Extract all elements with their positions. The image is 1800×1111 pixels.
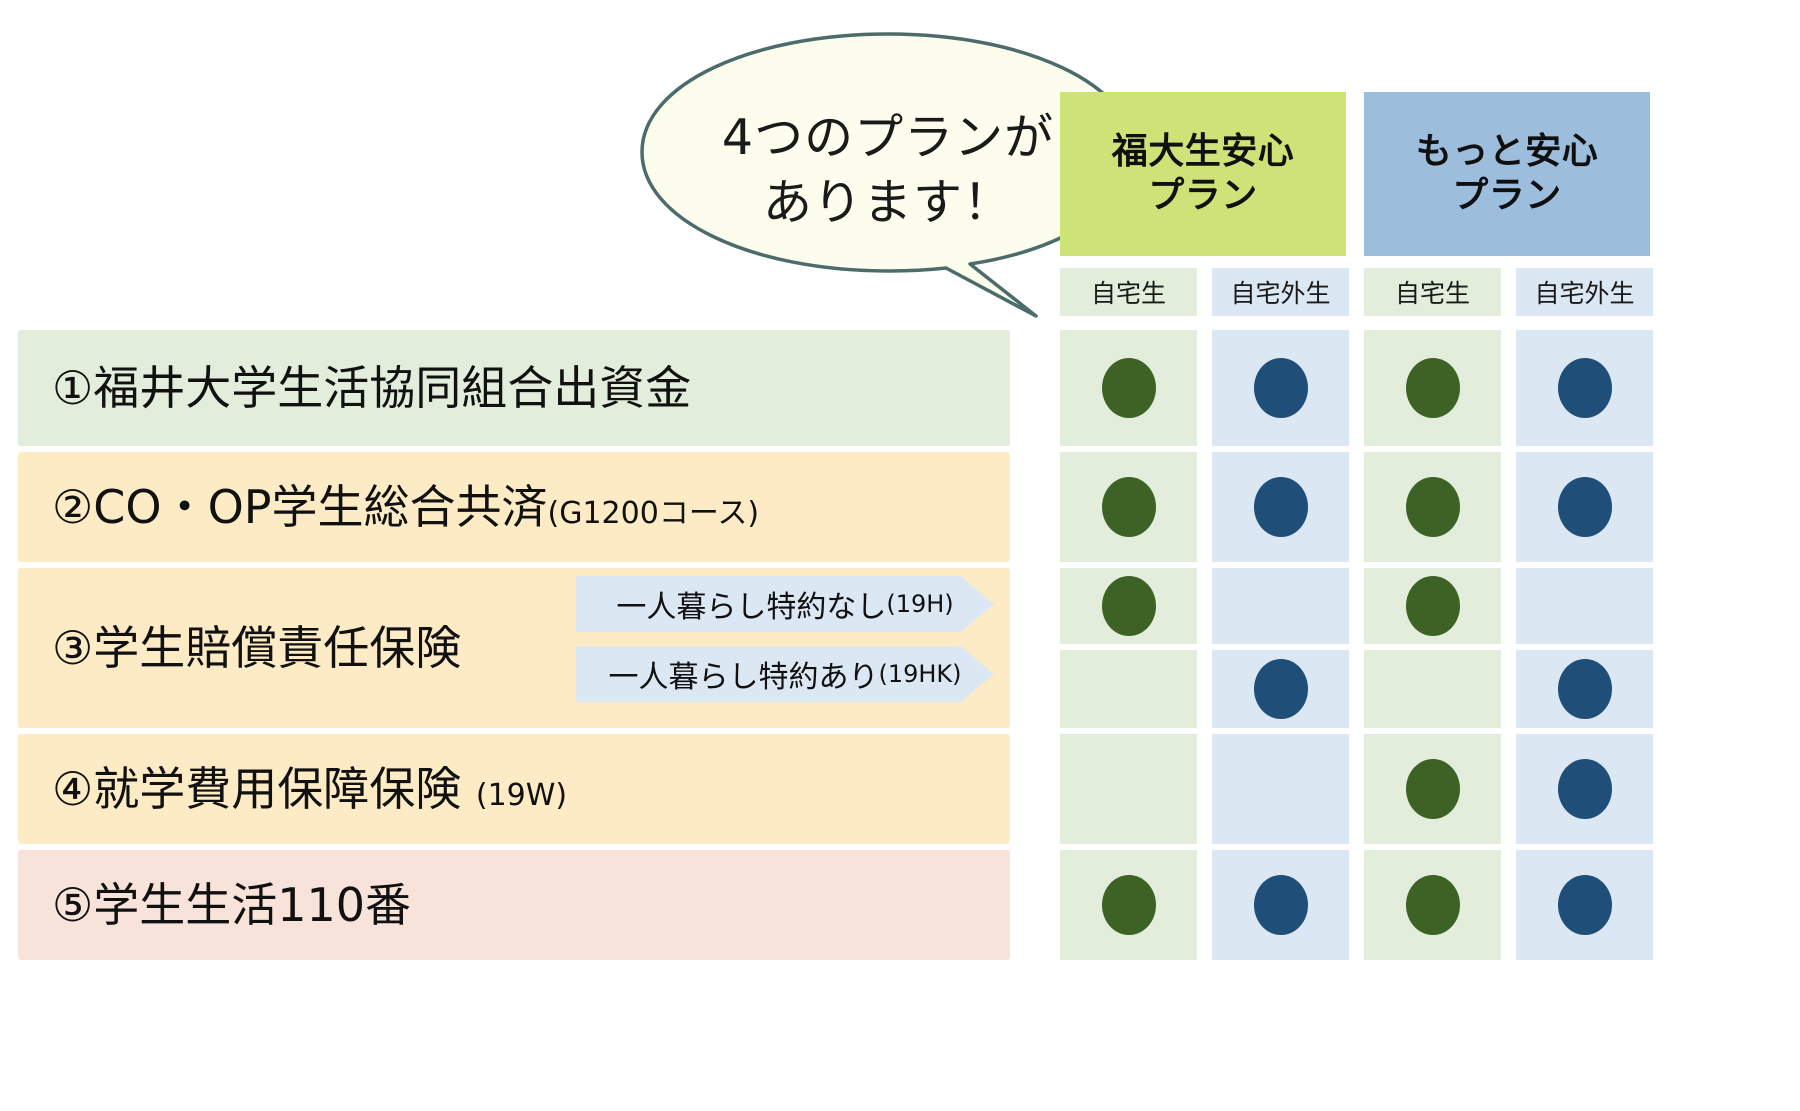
row-label-4-text: ④就学費用保障保険 (19W)	[18, 764, 567, 815]
row-label-3-text: ③学生賠償責任保険	[18, 623, 461, 674]
row-label-1: ①福井大学生活協同組合出資金	[18, 330, 1010, 446]
option-chevron-19h-label: 一人暮らし特約なし	[616, 582, 886, 626]
mark-dot-blue	[1558, 875, 1612, 935]
subcolumn-header-jitakugaisei-1: 自宅外生	[1212, 268, 1349, 316]
mark-cell-r3ac3	[1364, 568, 1501, 644]
row-label-2: ②CO・OP学生総合共済(G1200コース)	[18, 452, 1010, 562]
mark-dot-blue	[1254, 358, 1308, 418]
mark-cell-r4c1	[1060, 734, 1197, 844]
subcolumn-header-jitakusei-2: 自宅生	[1364, 268, 1501, 316]
mark-cell-r2c4	[1516, 452, 1653, 562]
option-chevron-19hk-label: 一人暮らし特約あり	[608, 652, 878, 696]
mark-cell-r3bc4	[1516, 650, 1653, 728]
mark-dot-blue	[1558, 659, 1612, 719]
plan-header-motto-anshin: もっと安心 プラン	[1364, 92, 1650, 256]
mark-dot-blue	[1558, 759, 1612, 819]
mark-cell-r2c2	[1212, 452, 1349, 562]
mark-dot-blue	[1254, 659, 1308, 719]
mark-dot-blue	[1254, 875, 1308, 935]
infographic-canvas: 4つのプランが あります！ 福大生安心 プラン もっと安心 プラン 自宅生 自宅…	[0, 0, 1800, 1111]
mark-dot-green	[1102, 576, 1156, 636]
mark-cell-r5c4	[1516, 850, 1653, 960]
mark-cell-r3ac2	[1212, 568, 1349, 644]
option-chevron-19h: 一人暮らし特約なし (19H)	[576, 576, 994, 632]
mark-dot-blue	[1558, 358, 1612, 418]
subcolumn-header-jitakusei-1: 自宅生	[1060, 268, 1197, 316]
row-label-5: ⑤学生生活110番	[18, 850, 1010, 960]
option-chevron-19hk: 一人暮らし特約あり (19HK)	[576, 646, 994, 702]
mark-dot-green	[1102, 358, 1156, 418]
mark-dot-green	[1406, 759, 1460, 819]
row-label-2-text: ②CO・OP学生総合共済(G1200コース)	[18, 482, 759, 533]
mark-cell-r2c1	[1060, 452, 1197, 562]
mark-cell-r2c3	[1364, 452, 1501, 562]
mark-dot-green	[1406, 358, 1460, 418]
mark-cell-r3bc3	[1364, 650, 1501, 728]
row-label-1-text: ①福井大学生活協同組合出資金	[18, 363, 691, 414]
mark-dot-blue	[1254, 477, 1308, 537]
mark-dot-green	[1406, 576, 1460, 636]
mark-cell-r3ac4	[1516, 568, 1653, 644]
mark-dot-blue	[1558, 477, 1612, 537]
mark-dot-green	[1102, 477, 1156, 537]
mark-cell-r1c4	[1516, 330, 1653, 446]
subcolumn-header-jitakugaisei-2: 自宅外生	[1516, 268, 1653, 316]
mark-cell-r3bc1	[1060, 650, 1197, 728]
mark-cell-r1c3	[1364, 330, 1501, 446]
mark-cell-r4c4	[1516, 734, 1653, 844]
mark-cell-r1c2	[1212, 330, 1349, 446]
option-chevron-19hk-code: (19HK)	[878, 660, 961, 688]
mark-dot-green	[1406, 875, 1460, 935]
mark-cell-r5c2	[1212, 850, 1349, 960]
mark-cell-r4c2	[1212, 734, 1349, 844]
mark-dot-green	[1406, 477, 1460, 537]
plan-header-fukudaisei-anshin: 福大生安心 プラン	[1060, 92, 1346, 256]
row-label-4: ④就学費用保障保険 (19W)	[18, 734, 1010, 844]
mark-cell-r3ac1	[1060, 568, 1197, 644]
mark-cell-r1c1	[1060, 330, 1197, 446]
mark-cell-r3bc2	[1212, 650, 1349, 728]
row-label-5-text: ⑤学生生活110番	[18, 880, 411, 931]
mark-cell-r5c1	[1060, 850, 1197, 960]
option-chevron-19h-code: (19H)	[886, 590, 953, 618]
mark-dot-green	[1102, 875, 1156, 935]
mark-cell-r4c3	[1364, 734, 1501, 844]
mark-cell-r5c3	[1364, 850, 1501, 960]
